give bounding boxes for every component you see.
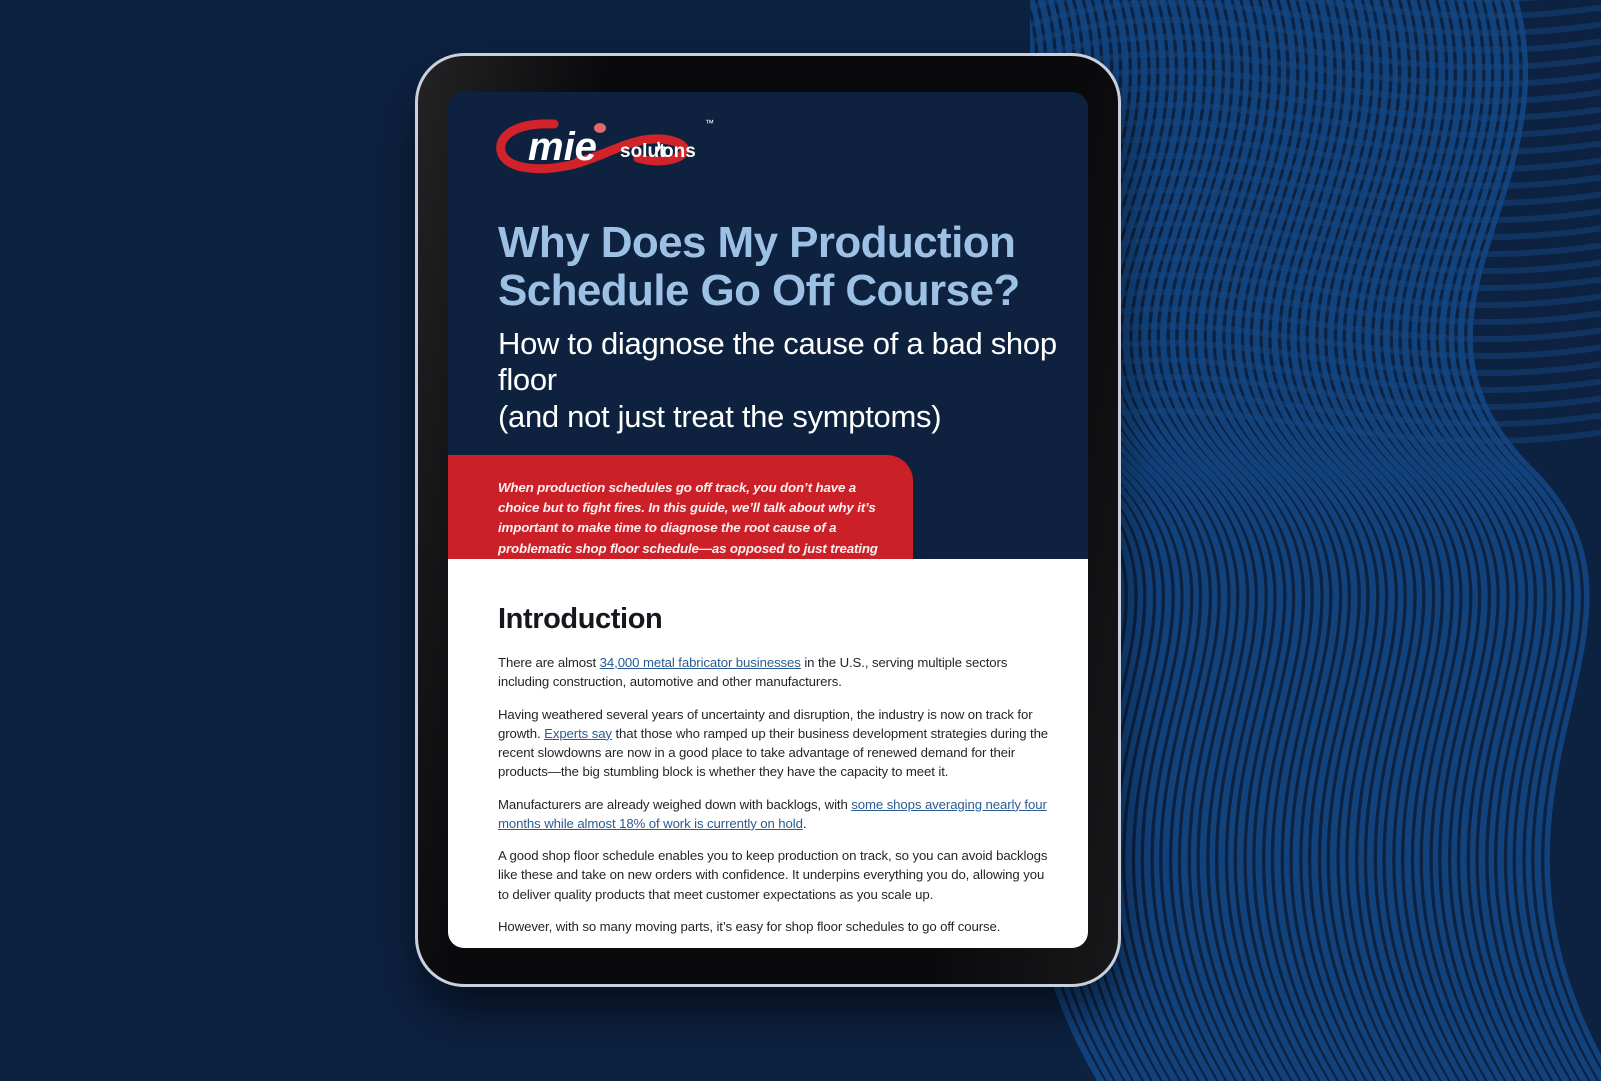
body-text-run: . [803, 816, 807, 831]
body-paragraph: Manufacturers are already weighed down w… [498, 795, 1058, 834]
page-subtitle-line-2: (and not just treat the symptoms) [498, 399, 941, 434]
mie-solutions-logo[interactable]: mie solut ons ™ [492, 114, 712, 176]
tablet-screen: mie solut ons ™ Why Does My Production S… [448, 92, 1088, 948]
introduction-body-text: There are almost 34,000 metal fabricator… [498, 653, 1058, 948]
document-content-panel: Introduction There are almost 34,000 met… [448, 559, 1088, 948]
body-paragraph: However, with so many moving parts, it’s… [498, 917, 1058, 936]
page-subtitle: How to diagnose the cause of a bad shop … [498, 326, 1078, 436]
page-title-line-2: Schedule Go Off Course? [498, 267, 1058, 315]
body-paragraph: Having weathered several years of uncert… [498, 705, 1058, 782]
tablet-device: mie solut ons ™ Why Does My Production S… [418, 56, 1118, 984]
body-paragraph: There are almost 34,000 metal fabricator… [498, 653, 1058, 692]
section-heading-introduction: Introduction [498, 603, 662, 636]
body-text-run: However, with so many moving parts, it’s… [498, 919, 1000, 934]
logo-graphic: mie solut ons [492, 114, 712, 176]
svg-text:mie: mie [528, 125, 597, 169]
body-link[interactable]: 34,000 metal fabricator businesses [600, 655, 801, 670]
trademark-symbol: ™ [705, 118, 714, 128]
body-link[interactable]: Experts say [544, 726, 612, 741]
svg-text:ons: ons [662, 141, 696, 162]
body-paragraph: A good shop floor schedule enables you t… [498, 846, 1058, 904]
page-title: Why Does My Production Schedule Go Off C… [498, 219, 1058, 315]
body-text-run: A good shop floor schedule enables you t… [498, 848, 1047, 902]
page-subtitle-line-1: How to diagnose the cause of a bad shop … [498, 326, 1057, 398]
body-text-run: There are almost [498, 655, 600, 670]
page-title-line-1: Why Does My Production [498, 218, 1015, 267]
body-text-run: Manufacturers are already weighed down w… [498, 797, 851, 812]
